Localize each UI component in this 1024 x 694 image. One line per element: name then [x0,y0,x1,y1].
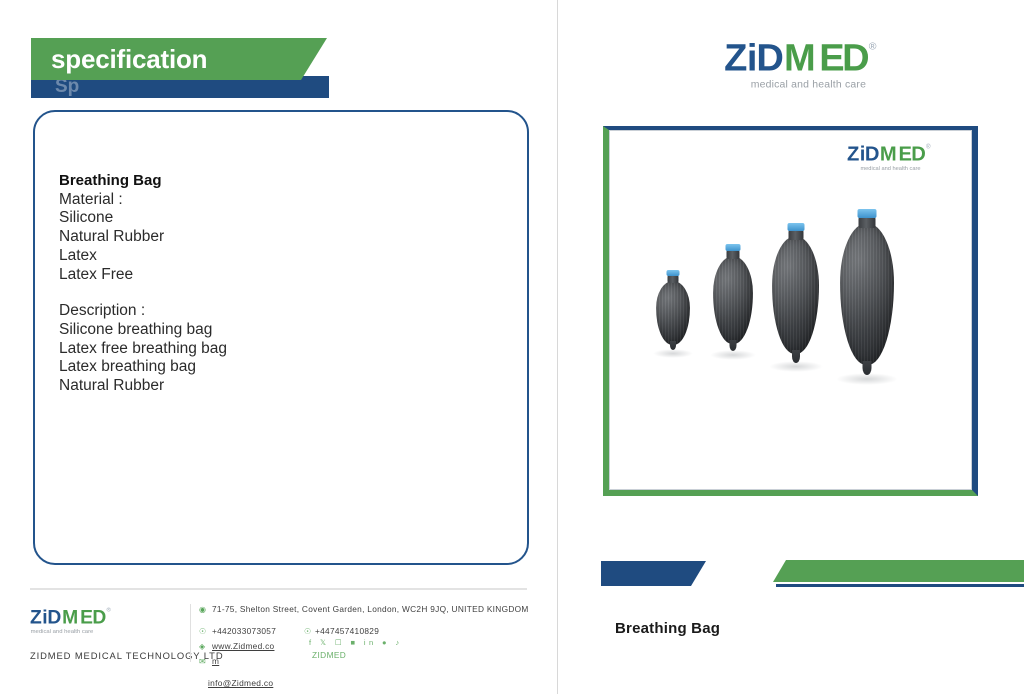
bag-neck [788,230,803,240]
svg-text:Z: Z [847,143,859,165]
spacer [59,284,499,302]
zidmed-logo-header-svg: Z i D M E D ® medical and health care [724,36,924,95]
svg-text:D: D [842,37,868,79]
material-item: Latex Free [59,266,499,285]
social-handle[interactable]: ZIDMED [312,650,346,660]
svg-text:E: E [819,37,843,79]
svg-text:®: ® [107,607,112,614]
bag-neck [727,250,740,259]
material-item: Latex [59,247,499,266]
footer-divider [30,588,527,590]
bag-collar [726,244,741,251]
globe-icon: ◈ [199,642,208,651]
social-icons-row[interactable]: f 𝕏 ☐ ■ in ● ♪ [309,638,403,647]
footer-company-name: ZIDMED MEDICAL TECHNOLOGY LTD [30,650,223,661]
svg-text:Z: Z [724,37,747,79]
breathing-bag-4 [840,223,894,365]
product-image-frame: Z i D M E D ® medical and health care [603,126,978,496]
svg-text:D: D [911,143,925,165]
svg-text:Z: Z [30,607,42,628]
svg-text:D: D [92,607,106,628]
bag-tail [670,341,676,350]
specification-text: Breathing Bag Material : Silicone Natura… [59,172,499,396]
description-item: Latex free breathing bag [59,340,499,359]
spec-header-label: specification [51,38,207,80]
zidmed-logo-footer-svg: Z i D M E D ® medical and health care [28,604,158,640]
bag-shadow [653,349,693,358]
bag-texture [713,256,753,344]
bag-shadow [710,350,756,360]
description-item: Natural Rubber [59,377,499,396]
zidmed-logo-watermark-svg: Z i D M E D ® medical and health care [847,141,959,174]
material-item: Natural Rubber [59,228,499,247]
brand-logo-header: Z i D M E D ® medical and health care [724,36,924,100]
whatsapp-icon[interactable]: ☉ [199,627,208,636]
contact-address: 71-75, Shelton Street, Covent Garden, Lo… [212,604,532,616]
bag-collar [787,223,804,231]
accent-banner-rule [776,584,1024,587]
contact-email[interactable]: info@Zidmed.co [208,678,273,688]
svg-text:M: M [880,143,896,165]
phone-icon[interactable]: ☉ [304,627,313,636]
product-image-caption: Breathing Bag [615,620,720,637]
breathing-bag-2 [713,256,753,344]
footer-logo: Z i D M E D ® medical and health care [28,604,188,645]
product-image-inner: Z i D M E D ® medical and health care [609,130,972,490]
right-page: Z i D M E D ® medical and health care [558,0,1024,694]
bag-collar [667,270,680,276]
svg-text:E: E [899,143,912,165]
product-title: Breathing Bag [59,172,499,191]
svg-text:medical and health care: medical and health care [751,79,866,90]
contact-website[interactable]: www.Zidmed.co [212,641,274,651]
description-item: Silicone breathing bag [59,321,499,340]
svg-text:E: E [80,607,93,628]
contact-address-row: ◉ 71-75, Shelton Street, Covent Garden, … [199,604,529,617]
bag-texture [840,223,894,365]
brand-logo-watermark: Z i D M E D ® medical and health care [847,141,959,179]
svg-text:medical and health care: medical and health care [860,166,920,172]
svg-text:i: i [860,143,865,165]
bag-neck [859,217,876,228]
contact-email-suffix[interactable]: m [212,656,219,666]
svg-text:i: i [747,37,756,79]
svg-text:D: D [865,143,879,165]
bag-collar [858,209,877,218]
svg-text:medical and health care: medical and health care [31,629,94,635]
svg-text:D: D [756,37,782,79]
breathing-bag-3 [772,236,819,354]
bag-tail [730,340,737,351]
contact-phone-primary[interactable]: +442033073057 [212,626,276,636]
bag-tail [863,361,872,375]
svg-text:i: i [42,607,47,628]
bag-neck [668,275,679,283]
bag-texture [656,281,690,345]
left-page: Sp specification Breathing Bag Material … [0,0,557,694]
location-pin-icon: ◉ [199,605,208,614]
svg-text:®: ® [869,41,877,52]
breathing-bag-1 [656,281,690,345]
contact-email-row: ✉ m [199,656,529,669]
product-photo [610,131,971,489]
bag-texture [772,236,819,354]
contact-phone-secondary[interactable]: +447457410829 [315,626,379,636]
material-label: Material : [59,191,499,210]
svg-text:®: ® [926,144,931,151]
bag-tail [792,350,800,363]
svg-text:M: M [784,37,814,79]
accent-banner-navy [601,561,691,586]
footer-vertical-divider [190,604,191,662]
bag-body [713,256,753,344]
bag-body [656,281,690,345]
accent-banner-green [786,560,1024,582]
description-label: Description : [59,302,499,321]
mail-icon: ✉ [199,657,208,666]
description-item: Latex breathing bag [59,358,499,377]
bag-body [772,236,819,354]
footer-contact-block: ◉ 71-75, Shelton Street, Covent Garden, … [199,604,529,656]
svg-text:M: M [62,607,77,628]
material-item: Silicone [59,209,499,228]
spec-header-banner: specification [31,38,301,80]
svg-text:D: D [47,607,61,628]
bag-body [840,223,894,365]
